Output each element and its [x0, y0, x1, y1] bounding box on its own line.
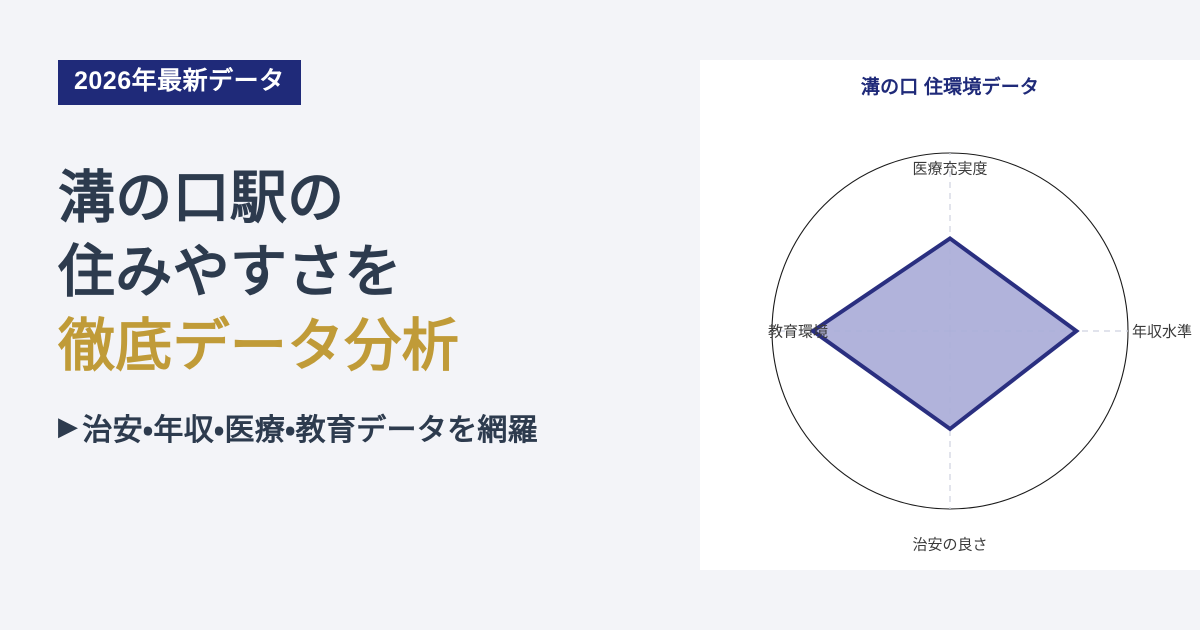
triangle-right-icon: ▶ — [58, 413, 78, 439]
radar-chart-svg — [700, 60, 1200, 570]
page-title-line-1: 溝の口駅の — [58, 161, 698, 235]
page-title: 溝の口駅の 住みやすさを 徹底データ分析 — [58, 161, 698, 383]
radar-axis-label-safety: 治安の良さ — [912, 534, 987, 555]
page-title-line-2: 住みやすさを — [58, 235, 698, 309]
headline-column: 2026年最新データ 溝の口駅の 住みやすさを 徹底データ分析 ▶ 治安・年収・… — [58, 60, 698, 449]
radar-axis-label-medical: 医療充実度 — [912, 158, 987, 179]
status-badge: 2026年最新データ — [58, 60, 301, 105]
chart-panel: 溝の口 住環境データ 医療充実度 年収水準 治安の良さ 教育環境 — [700, 60, 1200, 570]
subtitle: ▶ 治安・年収・医療・教育データを網羅 — [58, 405, 698, 449]
radar-axis-label-income: 年収水準 — [1132, 321, 1192, 342]
poster-canvas: 2026年最新データ 溝の口駅の 住みやすさを 徹底データ分析 ▶ 治安・年収・… — [0, 0, 1200, 630]
radar-axis-label-education: 教育環境 — [768, 321, 828, 342]
page-title-accent: 徹底データ分析 — [58, 309, 698, 383]
radar-data-polygon — [813, 238, 1076, 428]
subtitle-text: 治安・年収・医療・教育データを網羅 — [82, 405, 538, 449]
radar-chart: 医療充実度 年収水準 治安の良さ 教育環境 — [700, 60, 1200, 570]
